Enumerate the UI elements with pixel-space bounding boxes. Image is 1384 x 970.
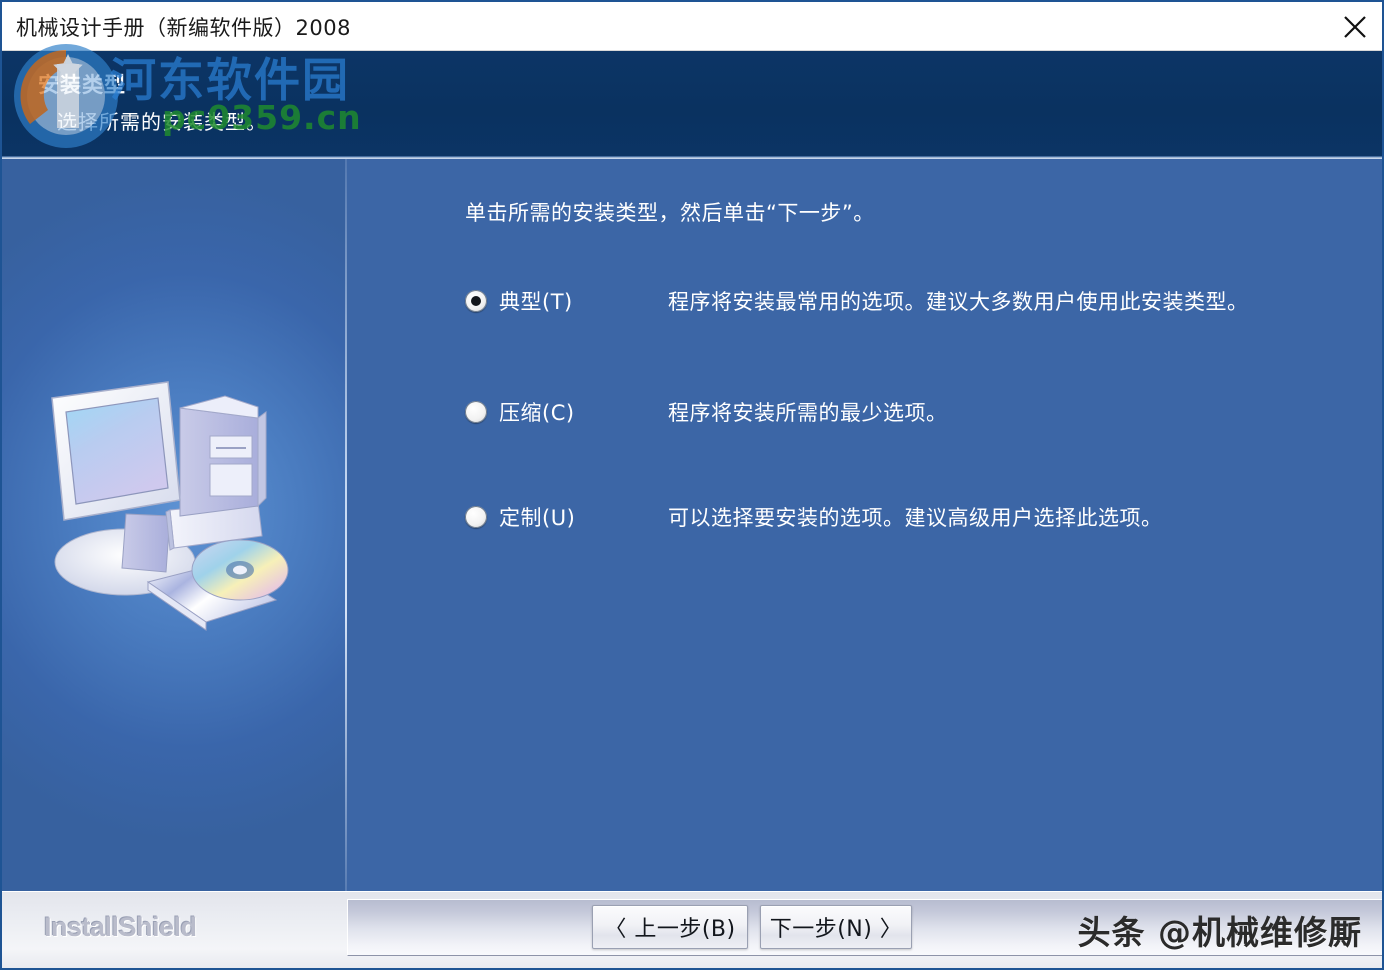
option-label-compact: 压缩(C): [499, 397, 575, 427]
radio-compact[interactable]: [465, 401, 487, 423]
footer-watermark: 头条 @机械维修厮: [1078, 906, 1363, 954]
install-type-option-typical[interactable]: 典型(T) 程序将安装最常用的选项。建议大多数用户使用此安装类型。: [465, 284, 1365, 320]
option-description-typical: 程序将安装最常用的选项。建议大多数用户使用此安装类型。: [668, 286, 1249, 316]
installer-window: 机械设计手册（新编软件版）2008 安装类型 选择所需的安装类型。 河东软件园 …: [0, 0, 1384, 970]
option-label-custom: 定制(U): [499, 502, 575, 532]
computer-cd-illustration: [30, 374, 330, 644]
illustration-panel: [2, 159, 345, 891]
content-panel: 单击所需的安装类型，然后单击“下一步”。 典型(T) 程序将安装最常用的选项。建…: [347, 159, 1382, 891]
back-button[interactable]: 〈 上一步(B): [592, 905, 748, 949]
radio-custom[interactable]: [465, 506, 487, 528]
close-icon[interactable]: [1324, 2, 1384, 49]
radio-typical[interactable]: [465, 290, 487, 312]
option-label-typical: 典型(T): [499, 286, 573, 316]
next-button[interactable]: 下一步(N) 〉: [760, 905, 912, 949]
instruction-text: 单击所需的安装类型，然后单击“下一步”。: [465, 197, 875, 227]
installshield-logo: InstallShield: [44, 912, 197, 943]
option-description-compact: 程序将安装所需的最少选项。: [668, 397, 948, 427]
window-title: 机械设计手册（新编软件版）2008: [16, 12, 351, 42]
install-type-option-compact[interactable]: 压缩(C) 程序将安装所需的最少选项。: [465, 395, 1365, 431]
wizard-footer: InstallShield 〈 上一步(B) 下一步(N) 〉 头条 @机械维修…: [2, 891, 1382, 968]
wizard-header-title: 安装类型: [38, 69, 126, 99]
wizard-body: 单击所需的安装类型，然后单击“下一步”。 典型(T) 程序将安装最常用的选项。建…: [2, 159, 1382, 891]
wizard-header: 安装类型 选择所需的安装类型。: [2, 51, 1382, 159]
close-x-glyph: [1343, 15, 1367, 39]
install-type-option-custom[interactable]: 定制(U) 可以选择要安装的选项。建议高级用户选择此选项。: [465, 500, 1365, 536]
title-bar: 机械设计手册（新编软件版）2008: [2, 2, 1384, 51]
wizard-header-subtitle: 选择所需的安装类型。: [57, 106, 267, 135]
option-description-custom: 可以选择要安装的选项。建议高级用户选择此选项。: [668, 502, 1163, 532]
